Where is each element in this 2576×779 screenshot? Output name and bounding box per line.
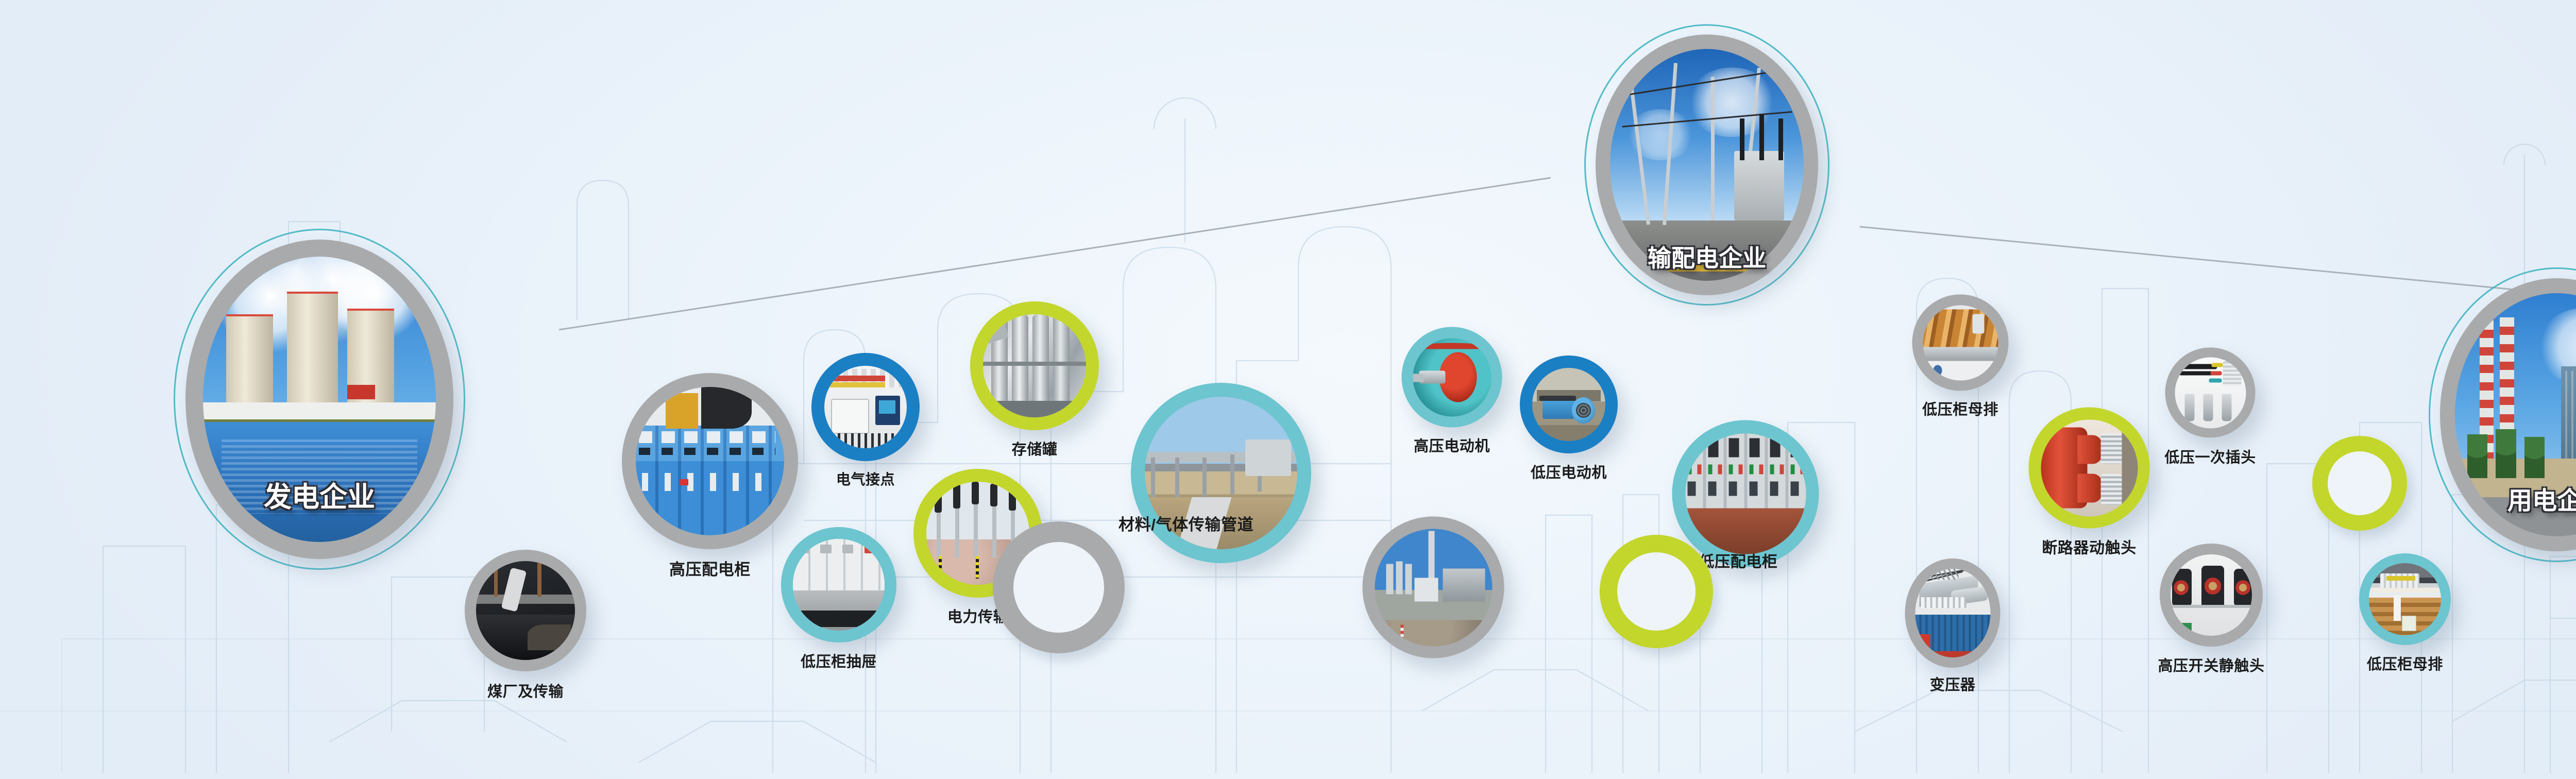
node-material-gas-pipeline[interactable]: 材料/气体传输管道	[1131, 383, 1311, 563]
hero-label-consumption: 用电企业	[2507, 480, 2576, 516]
node-label-hv-motor: 高压电动机	[1414, 434, 1490, 456]
node-ring	[1402, 327, 1502, 428]
node-label-transformer: 变压器	[1930, 673, 1976, 695]
node-label-lv-switchgear: 低压配电柜	[1699, 549, 1778, 572]
node-photo-electrical-contact	[824, 366, 907, 448]
node-breaker-moving-contact[interactable]: 断路器动触头	[2029, 408, 2150, 529]
node-label-material-gas-pipeline: 材料/气体传输管道	[1118, 512, 1253, 535]
node-ring: 用电企业	[2440, 278, 2576, 551]
node-lv-busbar-bottom[interactable]: 低压柜母排	[2359, 553, 2451, 645]
node-lv-busbar-top[interactable]: 低压柜母排	[1912, 295, 2009, 391]
node-label-lv-busbar-top: 低压柜母排	[1922, 398, 1998, 419]
node-ring	[1912, 295, 2009, 391]
node-photo-primary-plug	[2175, 357, 2246, 428]
node-photo-transformer	[1915, 569, 1990, 657]
node-photo-lv-switchgear	[1685, 433, 1806, 554]
node-coal-plant-transport[interactable]: 煤厂及传输	[465, 550, 586, 671]
node-lv-primary-plug[interactable]: 低压一次插头	[2165, 348, 2256, 438]
hero-node-transmission[interactable]: 输配电企业	[1596, 35, 1818, 295]
node-ring	[1131, 383, 1311, 563]
node-photo-copper-busbar	[1923, 305, 1998, 380]
node-ring	[781, 527, 896, 642]
node-label-lv-cabinet-drawer: 低压柜抽屉	[801, 650, 877, 671]
node-storage-tank[interactable]: 存储罐	[970, 301, 1099, 430]
node-ring	[1520, 355, 1618, 453]
node-lv-cabinet-drawer[interactable]: 低压柜抽屉	[781, 527, 896, 642]
node-ring	[1905, 558, 2001, 668]
node-hv-switchgear[interactable]: 高压配电柜	[622, 373, 798, 549]
node-ring	[465, 550, 586, 671]
node-ring	[1363, 517, 1504, 658]
decor-ring-green-right	[2312, 436, 2407, 531]
hero-label-transmission: 输配电企业	[1648, 240, 1766, 274]
node-lv-switchgear[interactable]: 低压配电柜	[1672, 420, 1819, 567]
node-ring	[970, 301, 1099, 430]
node-photo-static-contact	[2171, 554, 2252, 636]
node-ring	[2359, 553, 2451, 645]
node-transformer[interactable]: 变压器	[1905, 558, 2001, 668]
node-label-lv-motor: 低压电动机	[1531, 461, 1607, 482]
node-ring	[1672, 420, 1819, 567]
node-ring	[622, 373, 798, 549]
node-photo-hv-motor	[1413, 338, 1491, 416]
hero-node-power-generation[interactable]: 发电企业	[185, 240, 453, 559]
node-photo-breaker-contact	[2041, 419, 2138, 516]
node-hv-switch-static[interactable]: 高压开关静触头	[2160, 544, 2263, 647]
decor-ring-gray	[993, 521, 1125, 653]
node-chemical-plant[interactable]	[1363, 517, 1504, 658]
node-label-breaker-moving-contact: 断路器动触头	[2042, 535, 2137, 558]
node-ring	[2165, 348, 2256, 438]
node-photo-lv-drawer	[793, 539, 885, 631]
node-hv-motor[interactable]: 高压电动机	[1402, 327, 1502, 428]
node-photo-storage-tank	[983, 314, 1086, 417]
node-ring: 发电企业	[185, 240, 453, 559]
node-ring: 输配电企业	[1596, 35, 1818, 295]
node-lv-motor[interactable]: 低压电动机	[1520, 355, 1618, 453]
node-ring	[811, 353, 920, 461]
node-photo-chemical-plant	[1375, 529, 1492, 646]
node-label-electrical-contact: 电气接点	[836, 468, 895, 489]
node-photo-lv-motor	[1532, 368, 1605, 441]
node-label-lv-primary-plug: 低压一次插头	[2164, 446, 2256, 467]
node-photo-hv-cabinets	[636, 387, 784, 535]
node-label-lv-busbar-bottom: 低压柜母排	[2367, 652, 2443, 674]
hero-label-power-generation: 发电企业	[264, 474, 375, 515]
node-label-hv-switchgear: 高压配电柜	[669, 556, 751, 580]
node-photo-lv-busbar	[2369, 563, 2441, 635]
node-photo-coal-conveyor	[476, 561, 575, 660]
decor-ring-green	[1600, 535, 1713, 648]
node-label-coal-plant-transport: 煤厂及传输	[487, 680, 564, 701]
infographic-canvas: 发电企业 输配电企业	[0, 0, 2576, 779]
node-label-hv-switch-static: 高压开关静触头	[2158, 654, 2264, 675]
node-ring	[2029, 408, 2150, 529]
node-label-storage-tank: 存储罐	[1012, 437, 1058, 459]
node-electrical-contact[interactable]: 电气接点	[811, 353, 920, 461]
node-ring	[2160, 544, 2263, 647]
hero-node-consumption[interactable]: 用电企业	[2440, 278, 2576, 551]
